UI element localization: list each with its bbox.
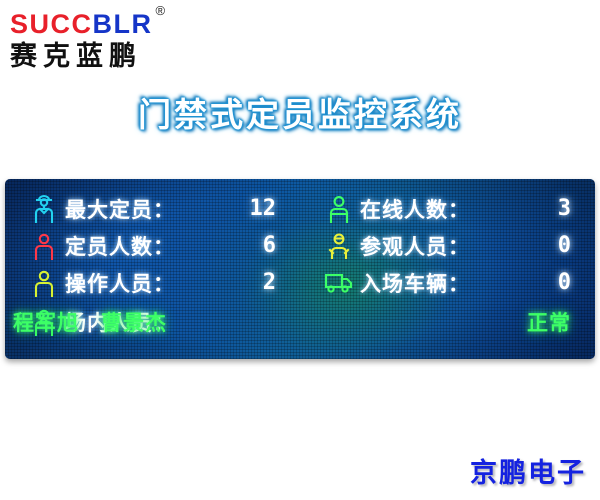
led-label-visitors: 参观人员： xyxy=(360,231,537,261)
led-row-quota-count: 定员人数： 6 xyxy=(5,227,300,264)
led-label-online-count: 在线人数： xyxy=(360,194,537,224)
led-label-quota-count: 定员人数： xyxy=(65,231,242,261)
footer-brand: 京鹏电子 xyxy=(470,451,586,490)
led-label-vehicles: 入场车辆： xyxy=(360,268,537,298)
truck-icon xyxy=(318,271,360,295)
led-label-max-capacity: 最大定员： xyxy=(65,194,242,224)
person-red-icon xyxy=(23,231,65,261)
person-visitor-icon xyxy=(318,231,360,261)
led-value-max-capacity: 12 xyxy=(242,196,276,221)
logo-wordmark-part1: SUCC xyxy=(10,9,93,39)
led-row-operators: 操作人员： 2 xyxy=(5,264,300,301)
led-value-vehicles: 0 xyxy=(537,270,571,295)
led-value-online-count: 3 xyxy=(537,196,571,221)
led-row-max-capacity: 最大定员： 12 xyxy=(5,190,300,227)
status-badge: 正常 xyxy=(527,307,571,337)
person-online-icon xyxy=(318,194,360,224)
led-row-online-count: 在线人数： 3 xyxy=(300,190,595,227)
page-title: 门禁式定员监控系统 xyxy=(0,88,600,136)
logo-wordmark: SUCCBLR® xyxy=(8,4,238,39)
led-onsite-names: 程军旭 曹景杰 xyxy=(13,307,527,337)
company-logo: SUCCBLR® 赛克蓝鹏 xyxy=(8,4,238,76)
led-value-quota-count: 6 xyxy=(242,233,276,258)
led-row-vehicles: 入场车辆： 0 xyxy=(300,264,595,301)
led-label-operators: 操作人员： xyxy=(65,268,242,298)
led-onsite-row: 程军旭 曹景杰 正常 xyxy=(5,303,595,340)
logo-wordmark-part2: BLR xyxy=(93,9,153,39)
led-display-board: 最大定员： 12 定员人数： 6 xyxy=(5,179,595,359)
led-value-visitors: 0 xyxy=(537,233,571,258)
led-row-visitors: 参观人员： 0 xyxy=(300,227,595,264)
led-value-operators: 2 xyxy=(242,270,276,295)
person-helmet-icon xyxy=(23,194,65,224)
person-yellow-icon xyxy=(23,268,65,298)
logo-chinese-name: 赛克蓝鹏 xyxy=(8,40,238,74)
led-onsite-name: 程军旭 xyxy=(13,307,79,337)
led-onsite-name: 曹景杰 xyxy=(101,307,167,337)
registered-trademark-icon: ® xyxy=(156,3,167,18)
